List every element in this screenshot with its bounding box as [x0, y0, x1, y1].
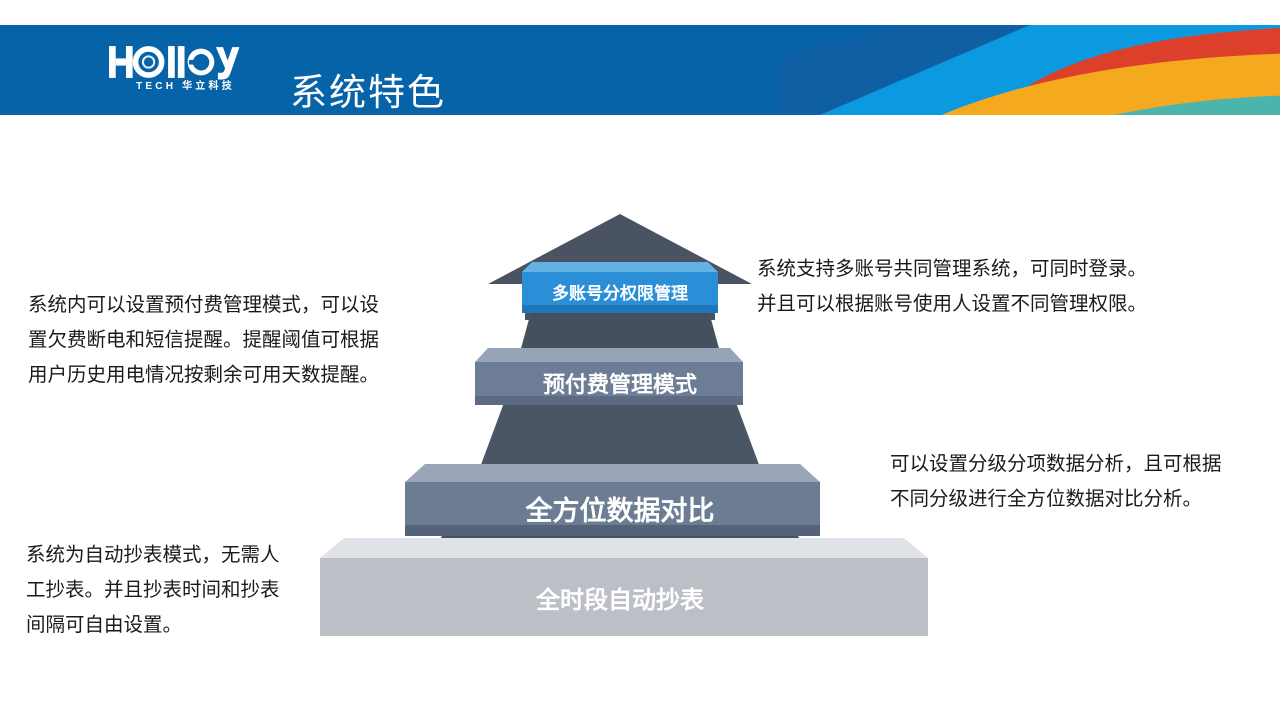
logo-subtitle: TECH 华立科技: [108, 81, 263, 93]
pyramid-level-4[interactable]: 全时段自动抄表: [320, 538, 928, 636]
pyramid-level-2[interactable]: 预付费管理模式: [475, 348, 743, 405]
level-2-bottom-shade: [475, 396, 743, 405]
note-top-right: 系统支持多账号共同管理系统，可同时登录。 并且可以根据账号使用人设置不同管理权限…: [757, 252, 1187, 322]
note-bottom-right: 可以设置分级分项数据分析，且可根据 不同分级进行全方位数据对比分析。: [890, 447, 1280, 517]
pyramid-level-3[interactable]: 全方位数据对比: [405, 464, 820, 536]
page-title: 系统特色: [290, 71, 446, 115]
level-1-top-face: [522, 262, 718, 272]
level-3-bottom-shade: [405, 525, 820, 536]
holley-wordmark-icon: [108, 43, 263, 81]
note-bottom-left: 系统为自动抄表模式，无需人 工抄表。并且抄表时间和抄表 间隔可自由设置。: [26, 538, 326, 643]
level-4-label: 全时段自动抄表: [535, 586, 705, 614]
page-header: TECH 华立科技 系统特色: [0, 25, 1280, 115]
slide-root: TECH 华立科技 系统特色 多账号分权限管理: [0, 0, 1280, 720]
note-top-left: 系统内可以设置预付费管理模式，可以设 置欠费断电和短信提醒。提醒阈值可根据 用户…: [28, 288, 438, 393]
level-3-top-face: [405, 464, 820, 482]
level-3-label: 全方位数据对比: [525, 495, 715, 526]
company-logo: TECH 华立科技: [108, 43, 263, 101]
header-content: TECH 华立科技 系统特色: [0, 25, 1280, 115]
level-4-top-face: [320, 538, 928, 558]
level-2-label: 预付费管理模式: [543, 372, 697, 397]
level-1-label: 多账号分权限管理: [552, 283, 688, 303]
level-2-top-face: [475, 348, 743, 362]
pyramid-level-1[interactable]: 多账号分权限管理: [522, 262, 718, 313]
level-1-bottom-shade: [522, 305, 718, 313]
